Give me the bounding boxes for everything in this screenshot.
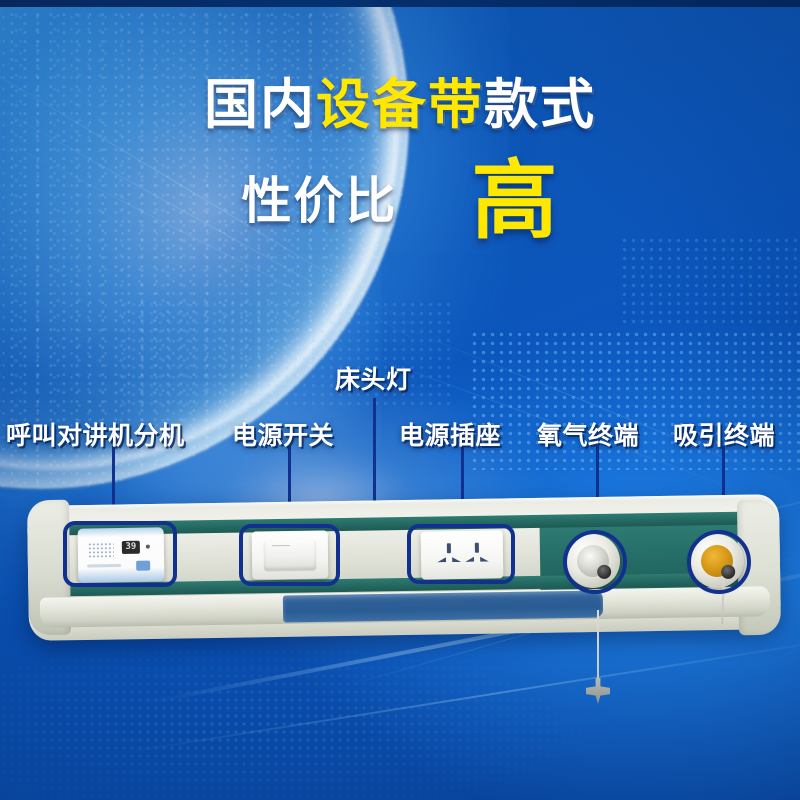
headline-text-suffix: 款式 — [484, 73, 596, 136]
headline-text-prefix: 国内 — [204, 73, 316, 136]
headline-text-accent: 设备带 — [316, 73, 484, 136]
headline-line-1: 国内设备带款式 — [0, 78, 800, 132]
callout-label-intercom: 呼叫对讲机分机 — [6, 416, 185, 452]
top-strip — [0, 0, 800, 7]
highlight-oxygen — [563, 530, 627, 594]
headline-big-accent: 高 — [472, 151, 559, 251]
callout-label-oxygen: 氧气终端 — [537, 416, 639, 452]
callout-label-power-switch: 电源开关 — [232, 416, 334, 452]
highlight-power-socket — [407, 524, 515, 584]
pull-cord[interactable] — [597, 610, 599, 682]
callout-label-suction: 吸引终端 — [673, 416, 775, 452]
highlight-intercom — [63, 521, 177, 587]
headline-block: 国内设备带款式 性价比高 — [0, 78, 800, 244]
highlight-suction — [687, 530, 751, 594]
callout-label-bedside-lamp: 床头灯 — [335, 360, 412, 396]
callout-label-power-socket: 电源插座 — [399, 416, 501, 452]
bedside-lamp-diffuser — [283, 590, 603, 622]
headline-subtext: 性价比 — [242, 172, 398, 230]
headline-line-2: 性价比高 — [0, 158, 800, 244]
highlight-power-switch — [239, 524, 340, 586]
